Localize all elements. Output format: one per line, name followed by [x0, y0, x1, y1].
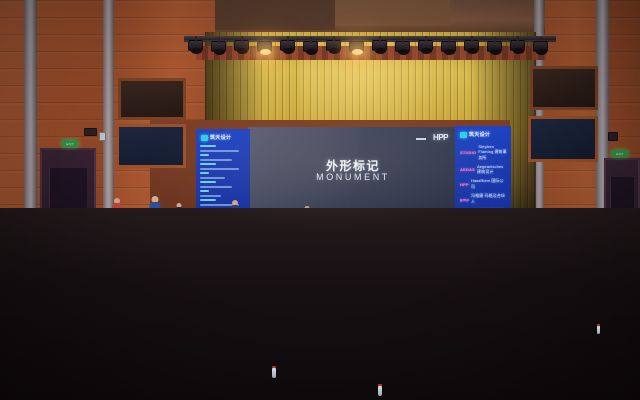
stage-light: [234, 40, 249, 51]
stage-light: [188, 40, 203, 51]
water-bottle: [272, 368, 276, 378]
stage-light: [418, 40, 433, 51]
side-screen-right: 筑天设计 STUDIOStephen Flaming 建筑事务所AEDASAeg…: [455, 126, 511, 221]
partner-row: gmp冯格康 玛格及合伙人: [460, 193, 507, 205]
main-projection-screen: HPP 外形标记 MONUMENT: [248, 127, 458, 219]
water-bottle: [597, 326, 600, 334]
stage-light: [441, 41, 456, 52]
water-bottle: [378, 386, 382, 396]
wall-panel-right-upper: [530, 66, 598, 110]
side-screen-left-header: 筑天设计: [201, 134, 231, 141]
speaker-box: [84, 128, 97, 136]
ceiling-band-left: [215, 0, 335, 30]
stage-light: [464, 40, 479, 51]
partner-logo: STUDIO: [460, 150, 476, 155]
wall-panel-left-lower: [116, 124, 186, 168]
exit-sign-right: EXIT: [612, 150, 628, 157]
partner-name: HassRiem 国际公司: [471, 178, 507, 190]
bottle-cap: [272, 366, 276, 368]
stage-light: [510, 40, 525, 51]
partner-name: 冯格康 玛格及合伙人: [471, 193, 507, 205]
partner-row: HPPHassRiem 国际公司: [460, 178, 507, 190]
bottle-cap: [597, 324, 600, 326]
audience-seating-area: [0, 208, 640, 400]
partner-logo: HPP: [460, 182, 469, 187]
partner-name: Stephen Flaming 建筑事务所: [478, 144, 507, 161]
stage-light-lit: [349, 41, 364, 52]
stage-light: [533, 41, 548, 52]
side-screen-right-header: 筑天设计: [460, 131, 490, 138]
stage-light: [303, 41, 318, 52]
partner-name: Aegeanisches 建筑设计: [477, 164, 507, 175]
partner-row: AEDASAegeanisches 建筑设计: [460, 164, 507, 175]
stage-light: [372, 40, 387, 51]
speaker-box: [608, 132, 618, 141]
logo-dash: [416, 138, 426, 140]
logo-mark-icon: [201, 135, 208, 141]
bottle-cap: [378, 384, 382, 386]
stage-light-lit: [257, 41, 272, 52]
stage-light: [326, 40, 341, 51]
screen-title-english: MONUMENT: [248, 172, 458, 182]
auditorium-photo: HPP 外形标记 MONUMENT 筑天设计 筑天设计 STUDIOStephe…: [0, 0, 640, 400]
exit-sign-left: EXIT: [62, 140, 78, 147]
wall-panel-right-lower: [528, 116, 598, 162]
stage-light: [211, 41, 226, 52]
logo-mark-icon: [460, 132, 467, 138]
partner-row: STUDIOStephen Flaming 建筑事务所: [460, 144, 507, 161]
side-screen-left-title: 筑天设计: [210, 134, 231, 141]
hpp-logo: HPP: [433, 133, 448, 142]
stage-light: [487, 41, 502, 52]
stage-light: [280, 40, 295, 51]
speaker-box: [99, 132, 106, 141]
wall-panel-left-upper: [118, 78, 186, 120]
ceiling-band-right: [335, 0, 450, 26]
side-screen-right-title: 筑天设计: [469, 131, 490, 138]
partner-logo: AEDAS: [460, 167, 475, 172]
partner-logo: gmp: [460, 197, 469, 202]
stage-light: [395, 41, 410, 52]
